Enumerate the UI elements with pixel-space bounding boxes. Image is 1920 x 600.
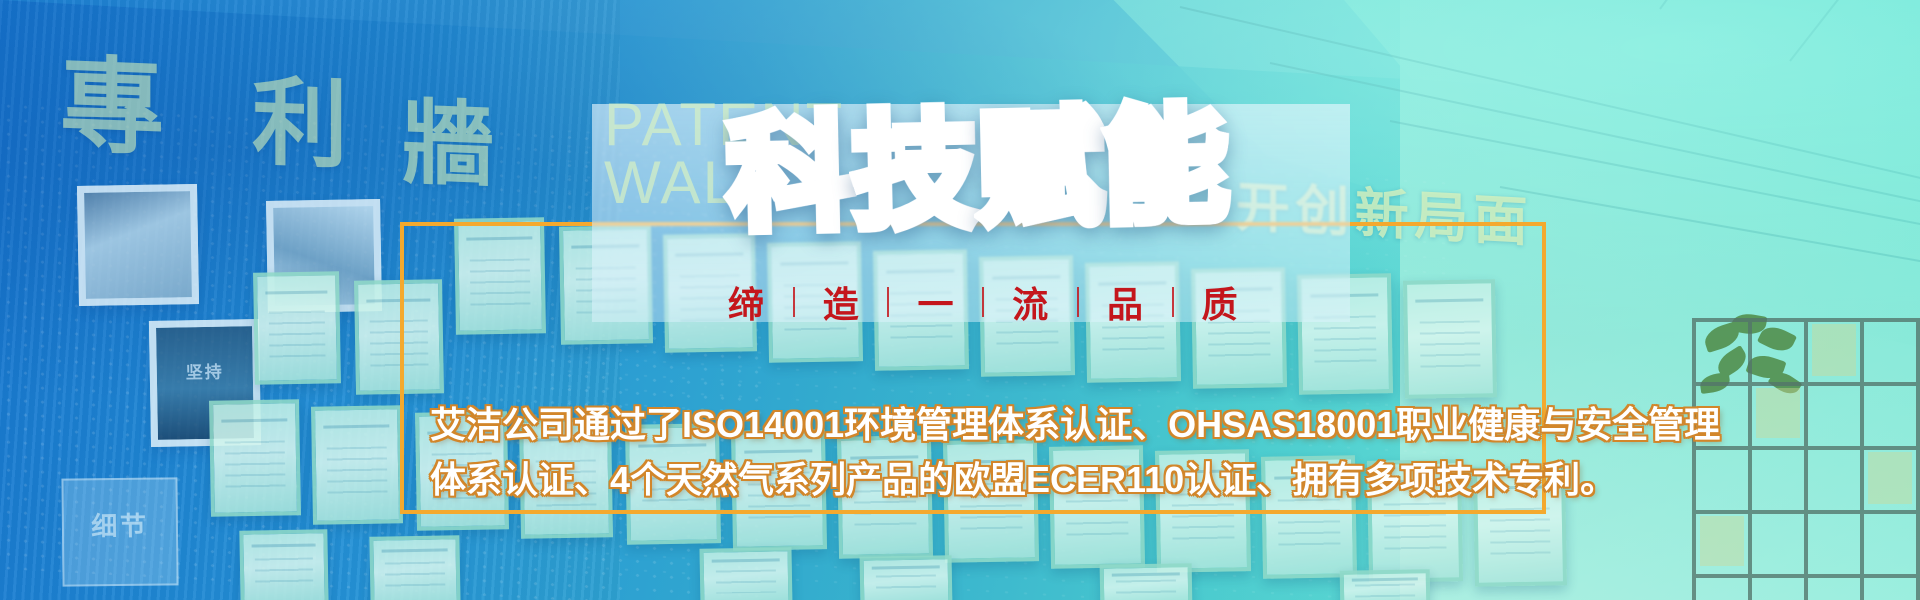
- detail-box-label: 细节: [64, 505, 176, 543]
- sub-slogan-separator: [887, 287, 889, 317]
- office-shelving-unit: [1692, 318, 1920, 600]
- headline-keji-funeng: 科技赋能: [727, 99, 1231, 243]
- certificate: [699, 547, 792, 600]
- certificate: [253, 271, 341, 384]
- headline-char-3: 赋: [977, 101, 1105, 237]
- headline-char-4: 能: [1102, 99, 1230, 235]
- sub-slogan-char-2: 造: [795, 276, 888, 328]
- wall-title-char-1: 專: [60, 20, 166, 175]
- description-line-1: 艾洁公司通过了ISO14001环境管理体系认证、OHSAS18001职业健康与安…: [430, 398, 1520, 453]
- sub-slogan-separator: [1172, 287, 1174, 317]
- description-text: 艾洁公司通过了ISO14001环境管理体系认证、OHSAS18001职业健康与安…: [430, 398, 1520, 507]
- certificate: [311, 405, 403, 525]
- sub-slogan-separator: [1077, 287, 1079, 317]
- headline-char-2: 技: [852, 104, 980, 240]
- poster-label: 坚持: [157, 358, 253, 385]
- sub-slogan-char-6: 质: [1174, 276, 1267, 328]
- certificate: [239, 529, 328, 600]
- patent-wall-banner: 專 利 牆 坚持 细节 开创新局面: [0, 0, 1920, 600]
- sub-slogan-char-4: 流: [984, 276, 1077, 328]
- certificate: [209, 399, 301, 517]
- sub-slogan-separator: [982, 287, 984, 317]
- certificate: [860, 555, 953, 600]
- sub-slogan-char-3: 一: [889, 276, 982, 328]
- wall-photo-frame: [77, 184, 199, 306]
- certificate: [1100, 563, 1193, 600]
- detail-box: 细节: [61, 477, 178, 586]
- certificate: [1340, 569, 1431, 600]
- wall-title-char-2: 利: [252, 44, 350, 187]
- sub-slogan-char-1: 缔: [700, 276, 793, 328]
- certificate: [369, 535, 460, 600]
- sub-slogan-char-5: 品: [1079, 276, 1172, 328]
- sub-slogan: 缔 造 一 流 品 质: [700, 276, 1266, 328]
- description-line-2: 体系认证、4个天然气系列产品的欧盟ECER110认证、拥有多项技术专利。: [430, 453, 1520, 508]
- wall-title-char-3: 牆: [402, 68, 496, 205]
- headline-char-1: 科: [727, 107, 855, 243]
- sub-slogan-separator: [793, 287, 795, 317]
